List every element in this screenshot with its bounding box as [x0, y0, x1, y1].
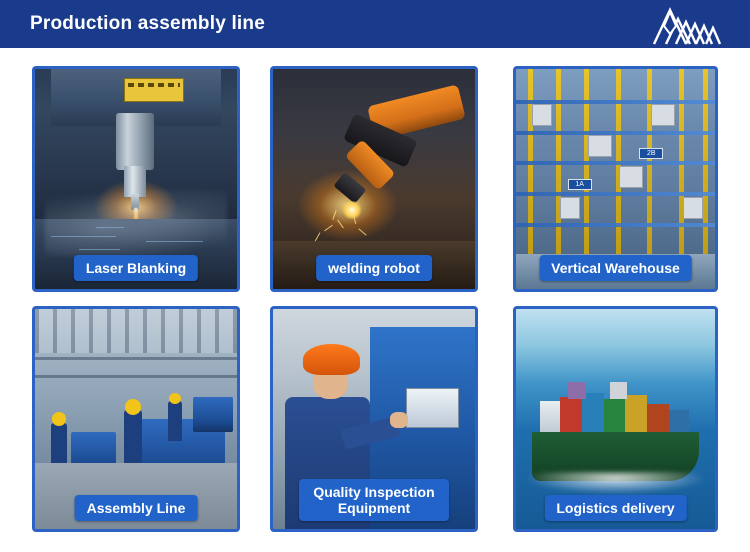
rack-sign: 2B	[639, 148, 663, 159]
card-caption: Assembly Line	[75, 495, 198, 521]
card-caption: Laser Blanking	[74, 255, 198, 281]
card-vertical-warehouse[interactable]: 2B 1A Vertical Warehouse	[513, 66, 718, 292]
page-header: Production assembly line	[0, 0, 694, 48]
card-laser-blanking[interactable]: Laser Blanking	[32, 66, 240, 292]
card-assembly-line[interactable]: Assembly Line	[32, 306, 240, 532]
card-welding-robot[interactable]: welding robot	[270, 66, 478, 292]
card-quality-inspection[interactable]: Quality Inspection Equipment	[270, 306, 478, 532]
card-caption: Vertical Warehouse	[539, 255, 692, 281]
card-caption: Quality Inspection Equipment	[299, 479, 449, 521]
card-grid: Laser Blanking welding robot	[0, 48, 750, 552]
page-root: Production assembly line	[0, 0, 750, 552]
card-caption: welding robot	[316, 255, 432, 281]
rack-sign: 1A	[568, 179, 592, 190]
card-caption: Logistics delivery	[544, 495, 686, 521]
page-title: Production assembly line	[30, 13, 265, 35]
mountain-lines-logo-icon	[640, 0, 750, 48]
card-logistics-delivery[interactable]: Logistics delivery	[513, 306, 718, 532]
